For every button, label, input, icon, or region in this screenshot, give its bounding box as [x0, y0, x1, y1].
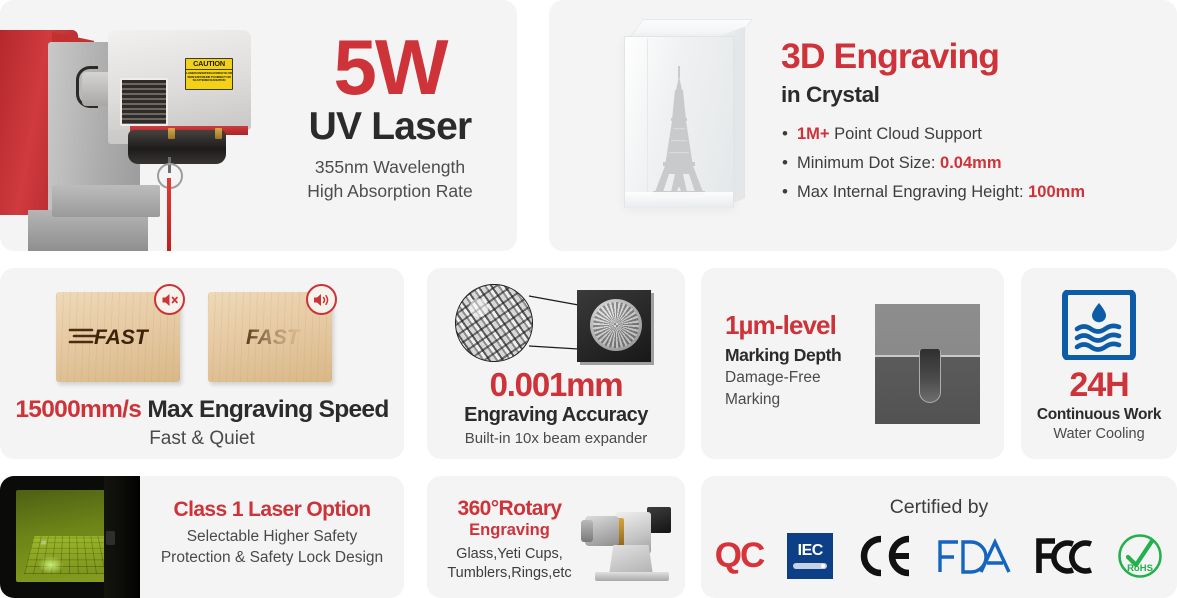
depth-text-block: 1µm-level Marking Depth Damage-Free Mark…: [725, 312, 875, 411]
crystal-eiffel-tower-photo: [579, 14, 789, 239]
honeycomb-bed: [24, 536, 116, 574]
panel-engraving-accuracy: 0.001mm Engraving Accuracy Built-in 10x …: [427, 268, 685, 459]
panel-uv-laser: CAUTION LASER RADIATION AVOID EYE OR SKI…: [0, 0, 517, 251]
rotary-stand: [609, 545, 653, 575]
engraving-3d-subtitle: in Crystal: [781, 82, 1161, 108]
coin-sample-dark-square: [577, 290, 651, 362]
laser-glow-spot: [38, 556, 64, 574]
panel-3d-engraving: 3D Engraving in Crystal 1M+ Point Cloud …: [549, 0, 1177, 251]
magnified-coin-engraving: [449, 282, 663, 364]
qc-badge: QC: [715, 533, 764, 579]
panel-water-cooling: 24H Continuous Work Water Cooling: [1021, 268, 1177, 459]
speed-sub: Fast & Quiet: [0, 428, 404, 450]
engraving-3d-title: 3D Engraving: [781, 38, 1161, 75]
svg-text:FAST: FAST: [94, 326, 150, 349]
rotary-chuck-attachment-photo: [579, 490, 677, 586]
bullet-text: Minimum Dot Size:: [797, 154, 940, 172]
svg-text:FAST: FAST: [246, 326, 302, 349]
brass-screw-left: [168, 128, 175, 139]
engraving-3d-text-block: 3D Engraving in Crystal 1M+ Point Cloud …: [781, 38, 1161, 212]
depth-note-line-1: Damage-Free: [725, 368, 875, 388]
depth-note-line-2: Marking: [725, 390, 875, 410]
cooling-value: 24H: [1021, 368, 1177, 404]
lens-assembly: [128, 130, 226, 164]
rohs-badge-mark: RoHS: [1117, 533, 1163, 579]
certification-badge-row: QC IEC: [701, 528, 1177, 584]
panel-engraving-speed: FAST: [0, 268, 404, 459]
product-feature-infographic: CAUTION LASER RADIATION AVOID EYE OR SKI…: [0, 0, 1177, 598]
uv-sub-line-2: High Absorption Rate: [272, 180, 508, 204]
uv-laser-text-block: 5W UV Laser 355nm Wavelength High Absorp…: [272, 30, 508, 203]
machine-grey-plate-lower: [52, 185, 160, 217]
ce-badge-mark: [857, 535, 913, 577]
engraved-wood-fast-samples: FAST: [50, 284, 350, 384]
qc-badge-label: QC: [715, 536, 764, 576]
rotary-note-line-2: Tumblers,Rings,etc: [437, 564, 582, 583]
rotary-title: 360°Rotary: [437, 498, 582, 520]
accuracy-title: Engraving Accuracy: [427, 404, 685, 427]
bullet-text: Point Cloud Support: [830, 125, 982, 143]
bullet-text: Max Internal Engraving Height:: [797, 183, 1028, 201]
speed-title: Max Engraving Speed: [141, 396, 388, 423]
cooling-caption: 24H Continuous Work Water Cooling: [1021, 368, 1177, 442]
water-cooling-icon: [1062, 290, 1136, 360]
uv-power-value: 5W: [272, 30, 508, 104]
uv-sub-line-1: 355nm Wavelength: [272, 156, 508, 180]
bullet-highlight: 1M+: [797, 125, 830, 143]
panel-rotary-engraving: 360°Rotary Engraving Glass,Yeti Cups, Tu…: [427, 476, 685, 598]
accuracy-caption: 0.001mm Engraving Accuracy Built-in 10x …: [427, 368, 685, 447]
panel-marking-depth: 1µm-level Marking Depth Damage-Free Mark…: [701, 268, 1004, 459]
enclosure-latch-knob: [106, 531, 115, 545]
list-item: Max Internal Engraving Height: 100mm: [781, 182, 1161, 203]
svg-text:RoHS: RoHS: [1127, 563, 1153, 574]
engraved-coin: [590, 299, 642, 351]
eiffel-tower-icon: [651, 62, 707, 196]
engraving-3d-spec-list: 1M+ Point Cloud Support Minimum Dot Size…: [781, 124, 1161, 203]
brass-screw-right: [215, 128, 222, 139]
bullet-highlight: 0.04mm: [940, 154, 1001, 172]
speed-headline: 15000mm/s Max Engraving Speed: [0, 396, 404, 424]
fda-badge: [937, 533, 1011, 579]
caution-label-body: LASER RADIATION AVOID EYE OR SKIN EXPOSU…: [186, 72, 232, 84]
laser-enclosure-green-window-photo: [0, 476, 140, 598]
cooling-note: Water Cooling: [1021, 426, 1177, 442]
uv-laser-head-photo: CAUTION LASER RADIATION AVOID EYE OR SKI…: [0, 0, 285, 251]
caution-label-title: CAUTION: [186, 60, 232, 70]
class1-note-line-1: Selectable Higher Safety: [140, 526, 404, 547]
speed-caption: 15000mm/s Max Engraving Speed Fast & Qui…: [0, 396, 404, 450]
ce-badge: [857, 533, 913, 579]
iec-badge-bar: [793, 563, 827, 569]
depth-title: Marking Depth: [725, 345, 875, 366]
list-item: 1M+ Point Cloud Support: [781, 124, 1161, 145]
fcc-badge-mark: [1035, 536, 1093, 576]
class1-text-block: Class 1 Laser Option Selectable Higher S…: [140, 498, 404, 569]
panel-certifications: Certified by QC IEC: [701, 476, 1177, 598]
speaker-mute-icon: [154, 284, 185, 315]
class1-note-line-2: Protection & Safety Lock Design: [140, 547, 404, 568]
magnified-detail-circle: [455, 284, 533, 362]
list-item: Minimum Dot Size: 0.04mm: [781, 153, 1161, 174]
accuracy-value: 0.001mm: [427, 368, 685, 403]
rohs-badge: RoHS: [1117, 533, 1163, 579]
depth-value: 1µm-level: [725, 312, 875, 339]
accuracy-note: Built-in 10x beam expander: [427, 430, 685, 447]
uv-title: UV Laser: [272, 104, 508, 150]
crystal-inner-edge: [647, 39, 648, 207]
rotary-chuck-jaws: [585, 516, 619, 546]
certifications-heading: Certified by: [701, 496, 1177, 519]
panel-class1-laser-option: Class 1 Laser Option Selectable Higher S…: [0, 476, 404, 598]
laser-beam: [167, 178, 171, 251]
cooling-fins: [120, 78, 168, 126]
speaker-loud-icon: [306, 284, 337, 315]
cooling-title: Continuous Work: [1021, 406, 1177, 424]
caution-label: CAUTION LASER RADIATION AVOID EYE OR SKI…: [185, 58, 233, 90]
rotary-subtitle: Engraving: [437, 521, 582, 540]
rotary-note-line-1: Glass,Yeti Cups,: [437, 545, 582, 564]
fda-badge-mark: [937, 536, 1011, 576]
fcc-badge: [1035, 533, 1093, 579]
speed-value: 15000mm/s: [15, 396, 141, 423]
fast-engraving-mark-faded: FAST: [220, 322, 320, 350]
iec-badge-label: IEC: [798, 543, 823, 559]
micrograph-groove-cross-section: [875, 304, 980, 424]
bullet-highlight: 100mm: [1028, 183, 1085, 201]
iec-badge: IEC: [787, 533, 833, 579]
crystal-base-highlight: [625, 192, 733, 208]
class1-title: Class 1 Laser Option: [140, 498, 404, 522]
micrograph-groove: [919, 349, 941, 403]
fast-engraving-mark-dark: FAST: [68, 322, 168, 350]
rotary-base-plate: [595, 572, 669, 581]
rotary-text-block: 360°Rotary Engraving Glass,Yeti Cups, Tu…: [437, 498, 582, 583]
